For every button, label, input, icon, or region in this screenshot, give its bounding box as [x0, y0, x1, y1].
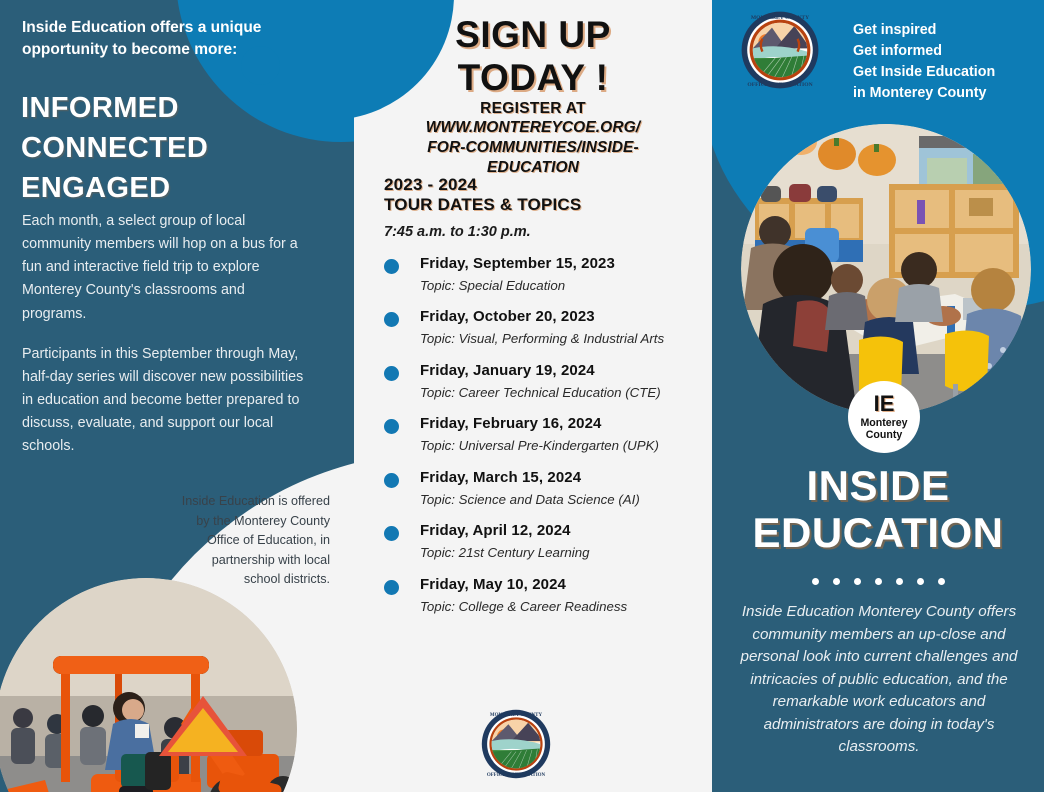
left-keywords-list: INFORMED CONNECTED ENGAGED	[21, 88, 351, 208]
coe-seal-icon: MONTEREY COUNTY OFFICE OF EDUCATION	[740, 10, 820, 90]
list-item: Friday, March 15, 2024 Topic: Science an…	[376, 469, 712, 508]
badge-initials: IE	[874, 393, 895, 415]
keyword-connected: CONNECTED	[21, 128, 351, 168]
svg-text:OFFICE OF EDUCATION: OFFICE OF EDUCATION	[487, 773, 546, 778]
page-title: INSIDE EDUCATION	[712, 462, 1044, 556]
tour-date: Friday, May 10, 2024	[420, 576, 712, 594]
divider-dot	[938, 578, 945, 585]
bullet-icon	[384, 259, 399, 274]
list-item: Friday, April 12, 2024 Topic: 21st Centu…	[376, 522, 712, 561]
get-line-1: Get inspired	[853, 20, 1043, 41]
keyword-informed: INFORMED	[21, 88, 351, 128]
coe-seal-icon: MONTEREY COUNTY OFFICE OF EDUCATION	[478, 706, 554, 782]
left-lead-text: Inside Education offers a unique opportu…	[22, 17, 302, 61]
list-item: Friday, October 20, 2023 Topic: Visual, …	[376, 308, 712, 347]
tour-date: Friday, January 19, 2024	[420, 362, 712, 380]
bullet-icon	[384, 580, 399, 595]
svg-text:MONTEREY COUNTY: MONTEREY COUNTY	[490, 713, 543, 718]
left-paragraph-2: Participants in this September through M…	[22, 343, 312, 459]
get-line-4: in Monterey County	[853, 83, 1043, 104]
tour-date: Friday, October 20, 2023	[420, 308, 712, 326]
list-item: Friday, September 15, 2023 Topic: Specia…	[376, 255, 712, 294]
classroom-photo	[741, 124, 1031, 414]
title-line-education: EDUCATION	[712, 509, 1044, 556]
tour-topic: Topic: 21st Century Learning	[420, 545, 712, 561]
get-line-2: Get informed	[853, 41, 1043, 62]
tour-dates-topics-label: TOUR DATES & TOPICS	[384, 195, 581, 215]
bullet-icon	[384, 312, 399, 327]
register-url-line-2[interactable]: FOR-COMMUNITIES/INSIDE-	[354, 138, 712, 158]
tour-date: Friday, February 16, 2024	[420, 415, 712, 433]
signup-line-2: TODAY !	[354, 57, 712, 100]
middle-panel: SIGN UP TODAY ! REGISTER AT WWW.MONTEREY…	[354, 0, 712, 792]
tour-topic: Topic: Career Technical Education (CTE)	[420, 385, 712, 401]
ie-monterey-county-badge: IE Monterey County	[848, 381, 920, 453]
tour-heading: 2023 - 2024 TOUR DATES & TOPICS	[384, 175, 581, 215]
get-line-3: Get Inside Education	[853, 62, 1043, 83]
tour-year-range: 2023 - 2024	[384, 175, 581, 195]
register-at-label: REGISTER AT	[354, 100, 712, 118]
register-block: REGISTER AT WWW.MONTEREYCOE.ORG/ FOR-COM…	[354, 100, 712, 177]
right-description-text: Inside Education Monterey County offers …	[738, 601, 1020, 759]
left-body-text: Each month, a select group of local comm…	[22, 210, 312, 459]
seal-bottom-text: OFFICE OF EDUCATION	[747, 82, 812, 88]
badge-subtitle-line-2: County	[860, 430, 907, 442]
tour-topic: Topic: Visual, Performing & Industrial A…	[420, 331, 712, 347]
left-paragraph-1: Each month, a select group of local comm…	[22, 210, 312, 326]
bullet-icon	[384, 526, 399, 541]
tour-topic: Topic: College & Career Readiness	[420, 599, 712, 615]
get-inspired-block: Get inspired Get informed Get Inside Edu…	[853, 20, 1043, 104]
list-item: Friday, January 19, 2024 Topic: Career T…	[376, 362, 712, 401]
register-url-line-1[interactable]: WWW.MONTEREYCOE.ORG/	[354, 118, 712, 138]
attribution-text: Inside Education is offered by the Monte…	[180, 492, 330, 590]
keyword-engaged: ENGAGED	[21, 168, 351, 208]
bullet-icon	[384, 419, 399, 434]
divider-dot	[917, 578, 924, 585]
tour-topic: Topic: Special Education	[420, 278, 712, 294]
tour-dates-list: Friday, September 15, 2023 Topic: Specia…	[376, 255, 712, 629]
brochure-page: Inside Education offers a unique opportu…	[0, 0, 1044, 792]
tour-topic: Topic: Universal Pre-Kindergarten (UPK)	[420, 438, 712, 454]
bullet-icon	[384, 366, 399, 381]
divider-dot	[896, 578, 903, 585]
tour-topic: Topic: Science and Data Science (AI)	[420, 492, 712, 508]
tour-time-range: 7:45 a.m. to 1:30 p.m.	[384, 224, 531, 240]
badge-subtitle-line-1: Monterey	[860, 418, 907, 430]
divider-dot	[833, 578, 840, 585]
tour-date: Friday, September 15, 2023	[420, 255, 712, 273]
signup-heading: SIGN UP TODAY !	[354, 14, 712, 100]
seal-top-text: MONTEREY COUNTY	[751, 15, 809, 21]
divider-dot	[854, 578, 861, 585]
list-item: Friday, February 16, 2024 Topic: Univers…	[376, 415, 712, 454]
badge-subtitle: Monterey County	[860, 418, 907, 441]
list-item: Friday, May 10, 2024 Topic: College & Ca…	[376, 576, 712, 615]
divider-dot	[812, 578, 819, 585]
bullet-icon	[384, 473, 399, 488]
dot-divider	[712, 578, 1044, 585]
tour-date: Friday, April 12, 2024	[420, 522, 712, 540]
divider-dot	[875, 578, 882, 585]
tour-date: Friday, March 15, 2024	[420, 469, 712, 487]
signup-line-1: SIGN UP	[354, 14, 712, 57]
title-line-inside: INSIDE	[712, 462, 1044, 509]
